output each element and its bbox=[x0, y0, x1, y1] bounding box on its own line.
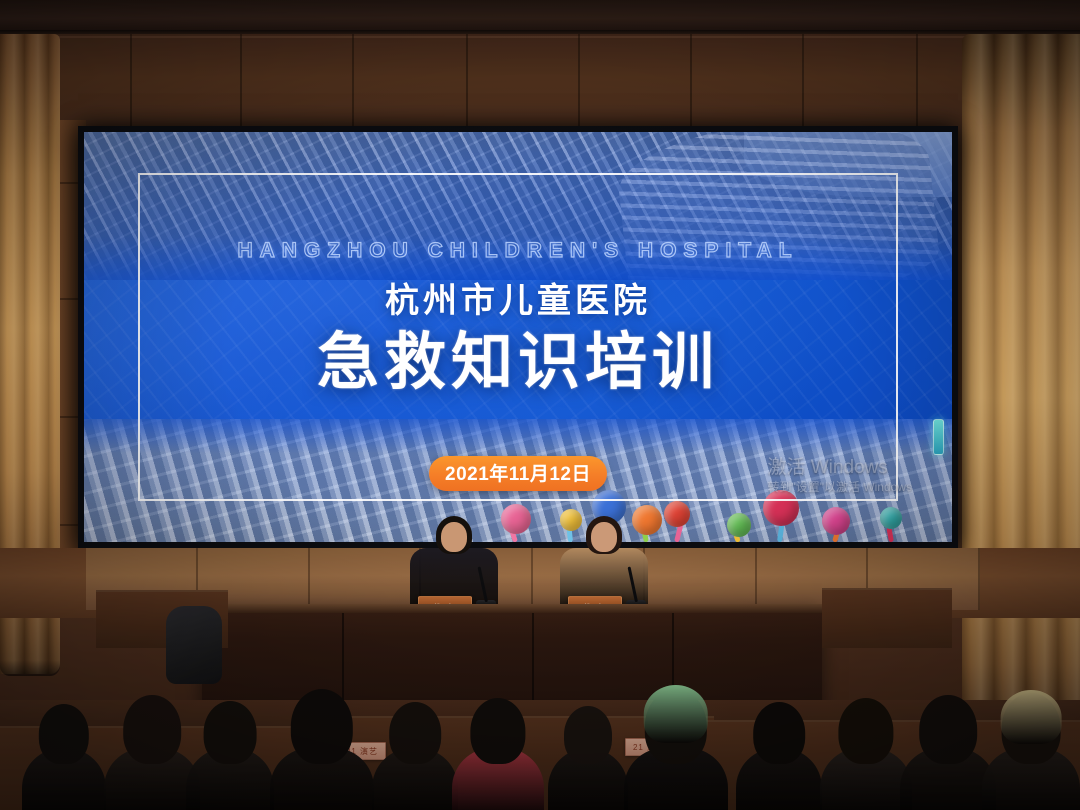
right-stage-curtain bbox=[962, 34, 1080, 734]
audience-member-10 bbox=[820, 700, 912, 810]
ceiling bbox=[0, 0, 1080, 34]
audience-member-12-beanie-hat bbox=[1001, 690, 1062, 745]
audience-member-7-head bbox=[564, 706, 612, 764]
balloon-pink-left bbox=[501, 504, 531, 534]
screen-side-marker-icon bbox=[933, 419, 944, 455]
upper-wall-paneling bbox=[0, 34, 1080, 130]
audience-member-6-head bbox=[470, 698, 525, 764]
speaker-right bbox=[556, 506, 652, 610]
audience-member-5-head bbox=[389, 702, 441, 764]
speaker-left-head bbox=[441, 522, 467, 552]
backpack bbox=[166, 606, 222, 684]
speaker-right-head bbox=[591, 522, 617, 552]
speaker-left bbox=[406, 506, 502, 610]
led-screen-bezel: HANGZHOU CHILDREN'S HOSPITAL 杭州市儿童医院 急救知… bbox=[78, 126, 958, 548]
led-screen[interactable]: HANGZHOU CHILDREN'S HOSPITAL 杭州市儿童医院 急救知… bbox=[84, 132, 952, 542]
balloon-red bbox=[664, 501, 690, 527]
audience-member-7 bbox=[548, 700, 628, 810]
audience-member-9-head bbox=[753, 702, 805, 764]
audience-member-11-head bbox=[919, 695, 977, 764]
audience-member-3 bbox=[186, 676, 274, 810]
audience-member-4 bbox=[270, 700, 374, 810]
right-side-cabinet bbox=[822, 588, 952, 648]
slide-photo-top-building bbox=[84, 132, 952, 280]
balloon-magenta bbox=[822, 507, 850, 535]
audience-member-8-beanie-hat bbox=[644, 685, 708, 743]
auditorium-scene: HANGZHOU CHILDREN'S HOSPITAL 杭州市儿童医院 急救知… bbox=[0, 0, 1080, 810]
audience-member-1-head bbox=[39, 704, 89, 764]
slide-date-badge: 2021年11月12日 bbox=[429, 456, 607, 491]
balloon-crimson bbox=[763, 490, 799, 526]
audience-member-10-head bbox=[838, 698, 893, 764]
balloon-teal bbox=[880, 507, 902, 529]
audience-member-12 bbox=[982, 676, 1080, 810]
balloon-green bbox=[727, 513, 751, 537]
audience-member-9 bbox=[736, 676, 822, 810]
audience-member-6 bbox=[452, 676, 544, 810]
audience-member-2-head bbox=[123, 695, 181, 764]
balloon-sculpture-group bbox=[483, 505, 934, 542]
audience-member-1 bbox=[22, 700, 106, 810]
audience-member-4-head bbox=[291, 689, 353, 764]
audience-member-8 bbox=[624, 688, 728, 810]
audience-member-5 bbox=[372, 688, 458, 810]
audience-member-3-head bbox=[204, 701, 257, 764]
